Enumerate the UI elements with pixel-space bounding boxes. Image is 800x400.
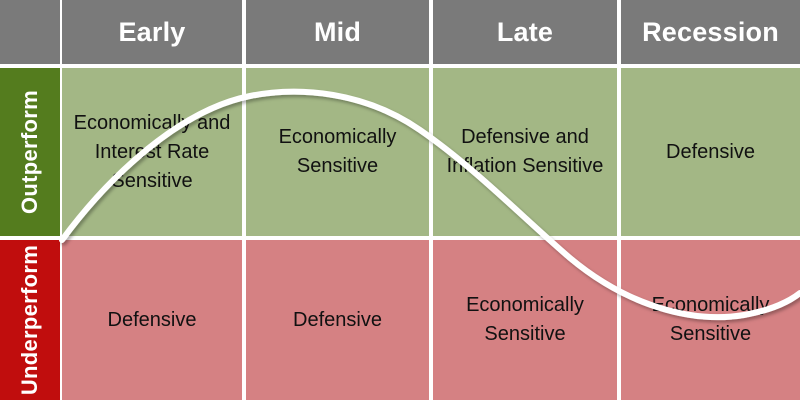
cell-outperform-mid: Economically Sensitive [246,68,429,236]
header-label-late: Late [497,17,553,48]
business-cycle-matrix: Early Mid Late Recession Outperform Econ… [0,0,800,400]
header-corner-cell [0,0,60,64]
row-label-underperform: Underperform [0,240,60,400]
header-cell-mid: Mid [246,0,429,64]
cell-outperform-early-text: Economically and Interest Rate Sensitive [70,109,234,196]
header-cell-early: Early [62,0,242,64]
row-label-outperform-text: Outperform [17,90,43,214]
header-cell-recession: Recession [621,0,800,64]
cell-outperform-recession-text: Defensive [666,138,755,167]
cell-outperform-late-text: Defensive and Inflation Sensitive [441,123,609,181]
cell-underperform-mid: Defensive [246,240,429,400]
cell-outperform-recession: Defensive [621,68,800,236]
cell-outperform-early: Economically and Interest Rate Sensitive [62,68,242,236]
cell-underperform-early-text: Defensive [108,306,197,335]
header-label-mid: Mid [314,17,361,48]
row-label-outperform: Outperform [0,68,60,236]
cell-outperform-late: Defensive and Inflation Sensitive [433,68,617,236]
header-cell-late: Late [433,0,617,64]
cell-outperform-mid-text: Economically Sensitive [254,123,421,181]
cell-underperform-recession: Economically Sensitive [621,240,800,400]
cell-underperform-early: Defensive [62,240,242,400]
cell-underperform-late: Economically Sensitive [433,240,617,400]
cell-underperform-late-text: Economically Sensitive [441,291,609,349]
cell-underperform-mid-text: Defensive [293,306,382,335]
cell-underperform-recession-text: Economically Sensitive [629,291,792,349]
row-label-underperform-text: Underperform [17,245,43,395]
header-label-recession: Recession [642,17,779,48]
header-label-early: Early [118,17,185,48]
